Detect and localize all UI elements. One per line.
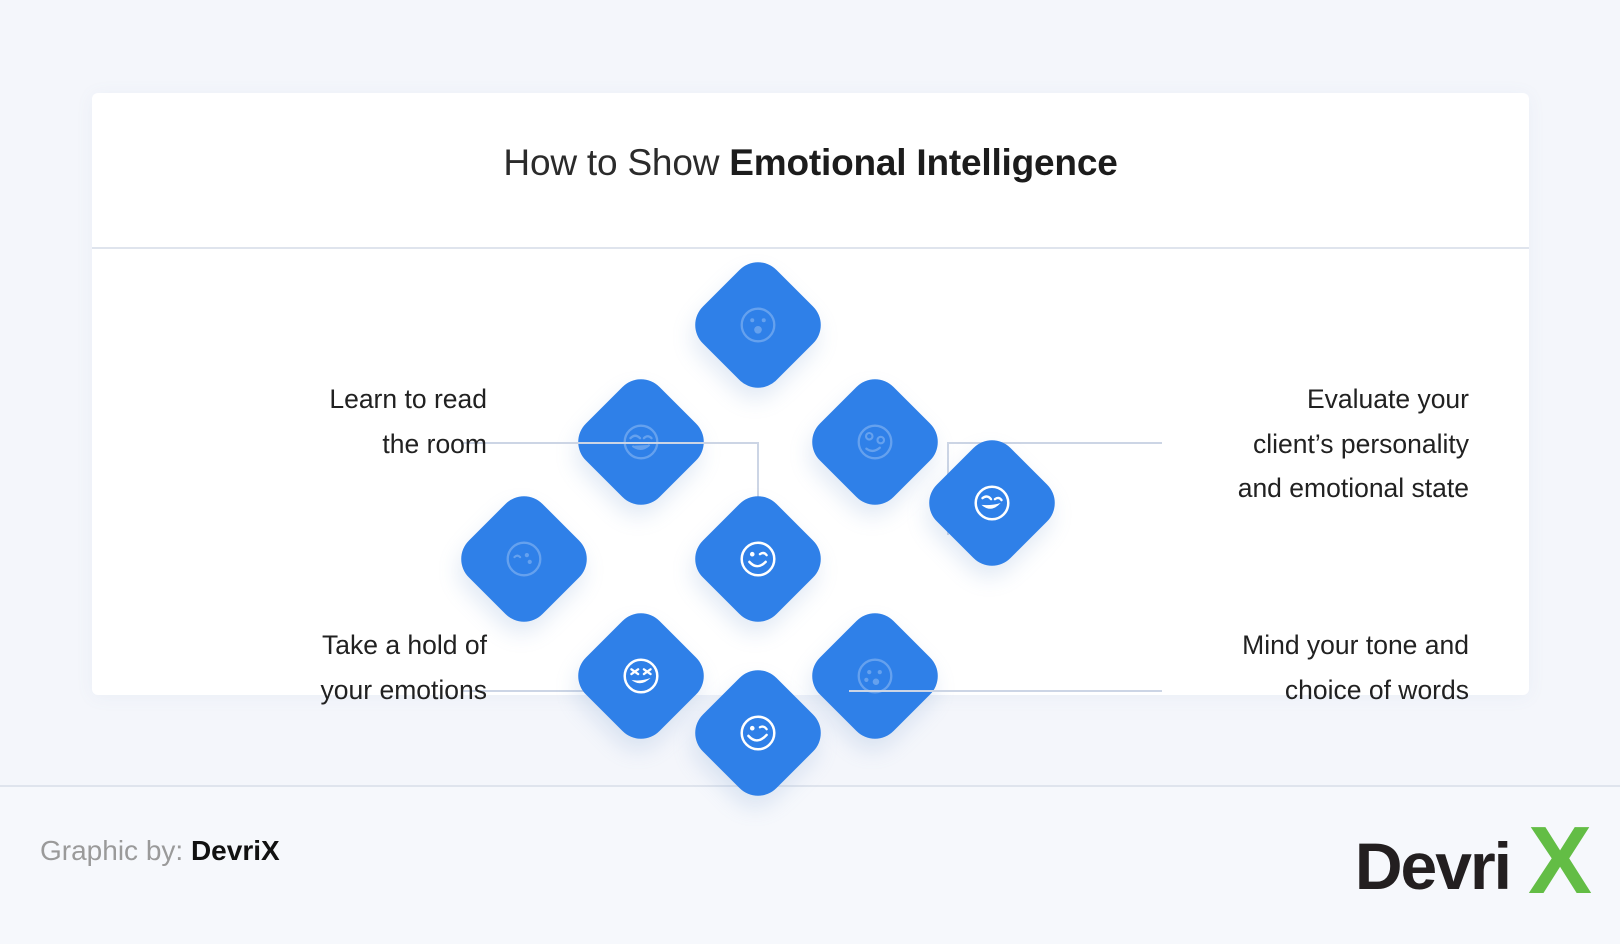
emotion-tile-7[interactable] bbox=[567, 602, 714, 749]
emotion-tile-1[interactable] bbox=[684, 251, 831, 398]
diagram-stage: Learn to read the room Take a hold of yo… bbox=[92, 251, 1529, 695]
footer-bar: Graphic by: DevriX Devri X bbox=[0, 787, 1620, 944]
infographic-card: How to Show Emotional Intelligence bbox=[92, 93, 1529, 695]
credit-text: Graphic by: DevriX bbox=[40, 835, 280, 867]
smiley-wink-icon bbox=[735, 536, 781, 582]
emotion-tile-4[interactable] bbox=[450, 485, 597, 632]
emotion-tile-8[interactable] bbox=[801, 602, 948, 749]
label-learn-to-read-the-room: Learn to read the room bbox=[152, 377, 487, 466]
card-header: How to Show Emotional Intelligence bbox=[92, 93, 1529, 249]
emotion-tile-5[interactable] bbox=[684, 485, 831, 632]
emotion-tile-3[interactable] bbox=[801, 368, 948, 515]
label-evaluate-your-clients-personality: Evaluate your client’s personality and e… bbox=[964, 377, 1469, 511]
smiley-surprised-icon bbox=[735, 302, 781, 348]
devrix-wordmark: Devri bbox=[1355, 833, 1510, 899]
label-take-a-hold-of-your-emotions: Take a hold of your emotions bbox=[152, 623, 487, 712]
smiley-happy-icon bbox=[735, 710, 781, 756]
devrix-logo: Devri X bbox=[1290, 809, 1590, 905]
smiley-dizzy-icon bbox=[618, 653, 664, 699]
page-title-bold: Emotional Intelligence bbox=[729, 142, 1117, 183]
page-title-regular: How to Show bbox=[503, 142, 729, 183]
page-title: How to Show Emotional Intelligence bbox=[92, 142, 1529, 184]
smiley-neutral-icon bbox=[501, 536, 547, 582]
credit-prefix: Graphic by: bbox=[40, 835, 191, 866]
smiley-sleepy-icon bbox=[618, 419, 664, 465]
smiley-smirk-icon bbox=[852, 419, 898, 465]
smiley-surprised-2-icon bbox=[852, 653, 898, 699]
label-mind-your-tone-and-choice-of-words: Mind your tone and choice of words bbox=[964, 623, 1469, 712]
devrix-x-icon: X bbox=[1528, 813, 1588, 909]
credit-brand: DevriX bbox=[191, 835, 280, 866]
emotion-tile-2[interactable] bbox=[567, 368, 714, 515]
